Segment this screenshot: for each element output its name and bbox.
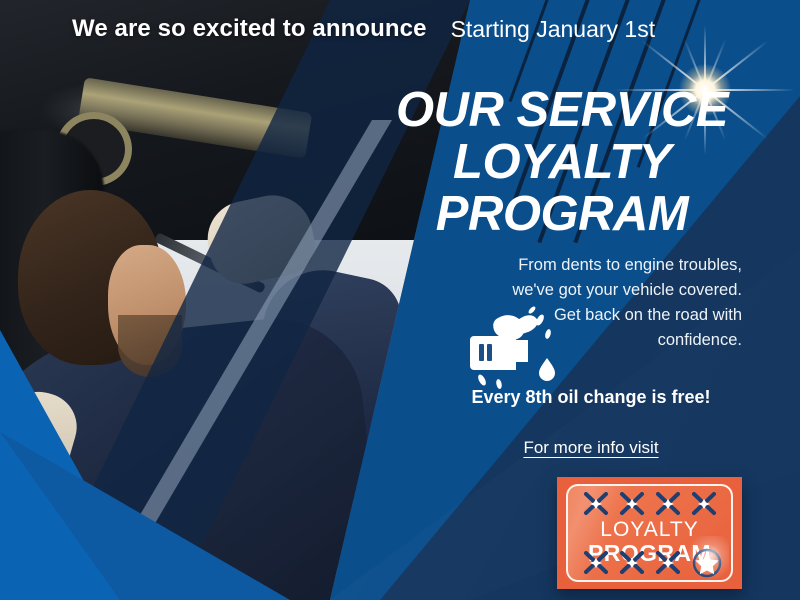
- description-line-3: Get back on the road with: [470, 303, 742, 328]
- more-info-label: For more info visit: [523, 438, 658, 457]
- x-stamp-icon: [583, 492, 609, 516]
- offer-text: Every 8th oil change is free!: [440, 387, 742, 408]
- description-text: From dents to engine troubles, we've got…: [470, 253, 742, 353]
- title-line-3: PROGRAM: [386, 188, 738, 240]
- title-line-1: OUR SERVICE: [386, 84, 738, 136]
- x-stamp-icon: [655, 492, 681, 516]
- x-stamp-icon: [655, 551, 681, 575]
- card-loyalty-label: LOYALTY: [568, 519, 731, 541]
- title-line-2: LOYALTY: [386, 136, 738, 188]
- start-date-text: Starting January 1st: [451, 16, 656, 43]
- star-icon: [691, 548, 723, 578]
- stamp-row-top: [568, 492, 731, 516]
- x-stamp-icon: [583, 551, 609, 575]
- headline-row: We are so excited to announce Starting J…: [0, 10, 800, 48]
- loyalty-card[interactable]: LOYALTY PROGRAM: [557, 477, 742, 589]
- more-info-link[interactable]: For more info visit: [440, 438, 742, 458]
- page-title: OUR SERVICE LOYALTY PROGRAM: [386, 84, 738, 240]
- announcement-text: We are so excited to announce: [72, 15, 427, 43]
- x-stamp-icon: [619, 551, 645, 575]
- description-line-4: confidence.: [470, 328, 742, 353]
- x-stamp-icon: [691, 492, 717, 516]
- x-stamp-icon: [619, 492, 645, 516]
- description-line-2: we've got your vehicle covered.: [470, 278, 742, 303]
- description-line-1: From dents to engine troubles,: [470, 253, 742, 278]
- flyer-canvas: We are so excited to announce Starting J…: [0, 0, 800, 600]
